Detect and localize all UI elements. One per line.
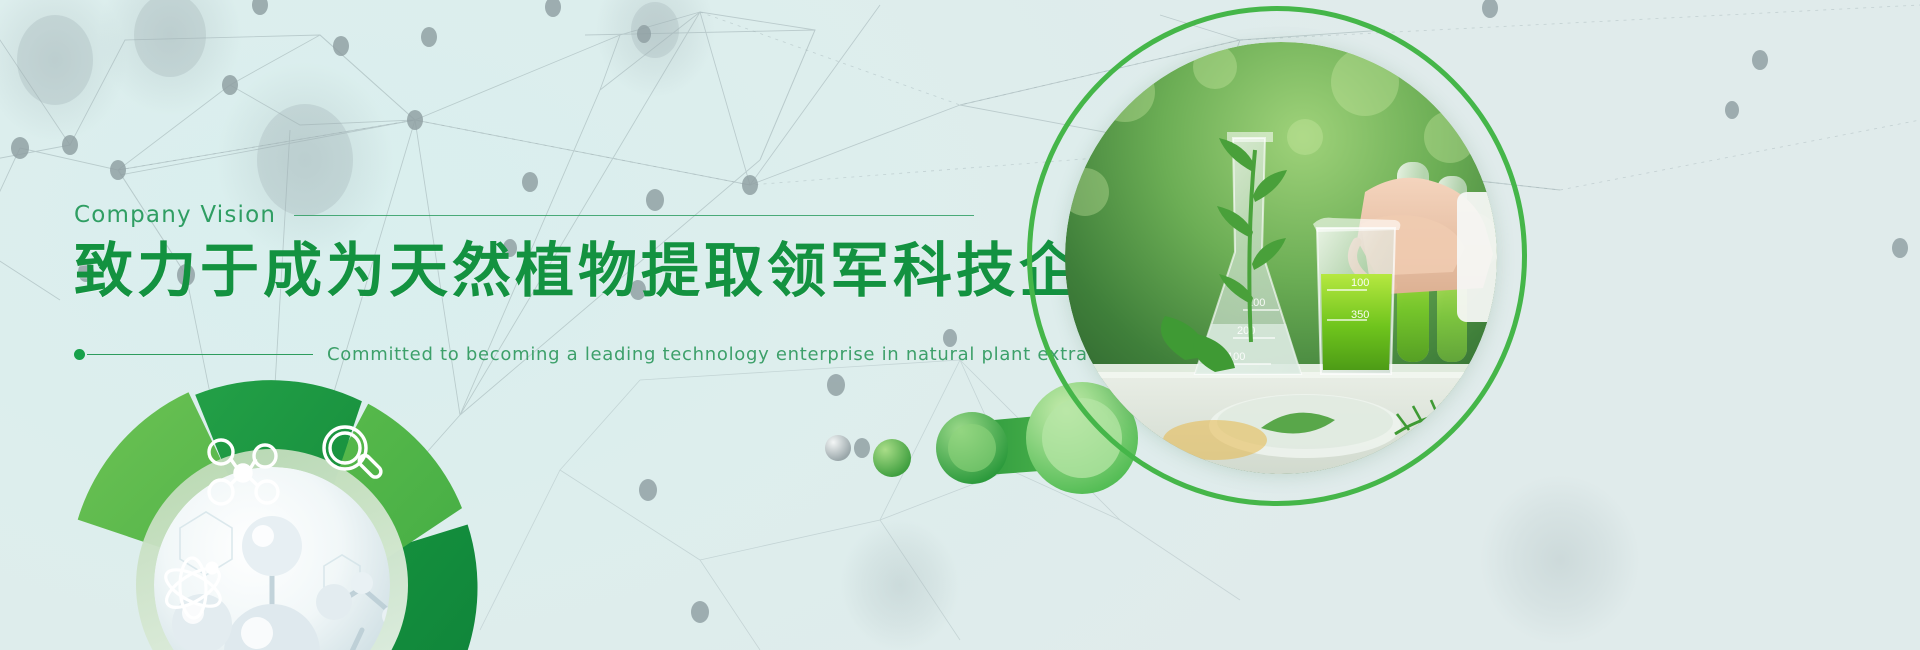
eyebrow-row: Company Vision xyxy=(74,200,974,230)
eyebrow-rule xyxy=(294,215,974,216)
svg-text:100: 100 xyxy=(1351,277,1369,289)
eyebrow-label: Company Vision xyxy=(74,202,276,228)
capability-donut-chart xyxy=(62,330,482,650)
beaker: 100 350 xyxy=(1313,218,1400,374)
page-title: 致力于成为天然植物提取领军科技企业 xyxy=(74,238,974,304)
company-vision-banner: Company Vision 致力于成为天然植物提取领军科技企业 Committ… xyxy=(0,0,1920,650)
svg-text:350: 350 xyxy=(1351,309,1369,321)
accent-node-gray-small xyxy=(825,435,851,461)
lab-glassware-photo: 100 200 100 xyxy=(1065,42,1497,474)
accent-node-green-small xyxy=(873,439,911,477)
